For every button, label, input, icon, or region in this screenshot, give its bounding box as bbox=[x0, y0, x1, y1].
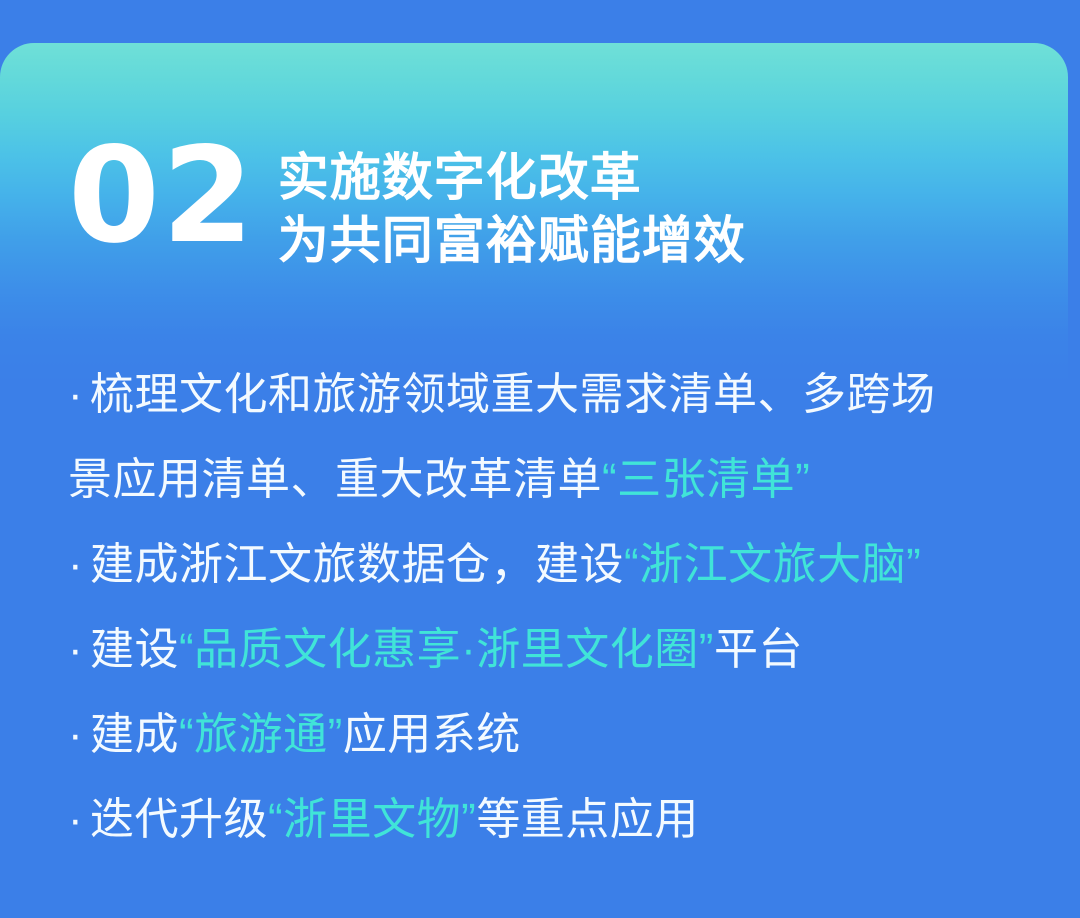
plain-text: 等重点应用 bbox=[476, 795, 699, 844]
bullet-dot-icon: · bbox=[68, 707, 90, 763]
section-number: 02 bbox=[68, 130, 256, 262]
list-item: ·迭代升级“浙里文物”等重点应用 bbox=[0, 777, 1080, 862]
list-item-text: ·建成“旅游通”应用系统 bbox=[68, 707, 521, 763]
highlighted-term: “浙江文旅大脑” bbox=[624, 540, 921, 589]
bullet-dot-icon: · bbox=[68, 792, 90, 848]
list-item-text: ·梳理文化和旅游领域重大需求清单、多跨场 bbox=[68, 367, 936, 423]
bullet-dot-icon: · bbox=[68, 622, 90, 678]
list-item: ·建设“品质文化惠享·浙里文化圈”平台 bbox=[0, 607, 1080, 692]
section-title-line-2: 为共同富裕赋能增效 bbox=[278, 209, 746, 272]
bullet-list: ·梳理文化和旅游领域重大需求清单、多跨场景应用清单、重大改革清单“三张清单”·建… bbox=[0, 352, 1080, 862]
poster-root: 02 实施数字化改革 为共同富裕赋能增效 ·梳理文化和旅游领域重大需求清单、多跨… bbox=[0, 0, 1080, 918]
bullet-dot-icon: · bbox=[68, 367, 90, 423]
highlighted-term: “浙里文物” bbox=[268, 795, 476, 844]
section-title-group: 实施数字化改革 为共同富裕赋能增效 bbox=[278, 146, 746, 272]
plain-text: 平台 bbox=[714, 625, 803, 674]
highlighted-term: “品质文化惠享·浙里文化圈” bbox=[179, 625, 714, 674]
list-item: ·建成“旅游通”应用系统 bbox=[0, 692, 1080, 777]
plain-text: 建设 bbox=[90, 625, 179, 674]
highlighted-term: “三张清单” bbox=[602, 455, 810, 504]
plain-text: 梳理文化和旅游领域重大需求清单、多跨场 bbox=[90, 370, 936, 419]
plain-text: 应用系统 bbox=[343, 710, 521, 759]
list-item-text: 景应用清单、重大改革清单“三张清单” bbox=[68, 452, 810, 508]
plain-text: 建成浙江文旅数据仓，建设 bbox=[90, 540, 624, 589]
list-item-text: ·建设“品质文化惠享·浙里文化圈”平台 bbox=[68, 622, 803, 678]
list-item-text: ·迭代升级“浙里文物”等重点应用 bbox=[68, 792, 699, 848]
list-item: ·建成浙江文旅数据仓，建设“浙江文旅大脑” bbox=[0, 522, 1080, 607]
section-header: 02 实施数字化改革 为共同富裕赋能增效 bbox=[0, 130, 1080, 280]
bullet-dot-icon: · bbox=[68, 537, 90, 593]
plain-text: 景应用清单、重大改革清单 bbox=[68, 455, 602, 504]
plain-text: 建成 bbox=[90, 710, 179, 759]
list-item-text: ·建成浙江文旅数据仓，建设“浙江文旅大脑” bbox=[68, 537, 921, 593]
list-item: 景应用清单、重大改革清单“三张清单” bbox=[0, 437, 1080, 522]
plain-text: 迭代升级 bbox=[90, 795, 268, 844]
highlighted-term: “旅游通” bbox=[179, 710, 343, 759]
list-item: ·梳理文化和旅游领域重大需求清单、多跨场 bbox=[0, 352, 1080, 437]
section-title-line-1: 实施数字化改革 bbox=[278, 146, 746, 209]
